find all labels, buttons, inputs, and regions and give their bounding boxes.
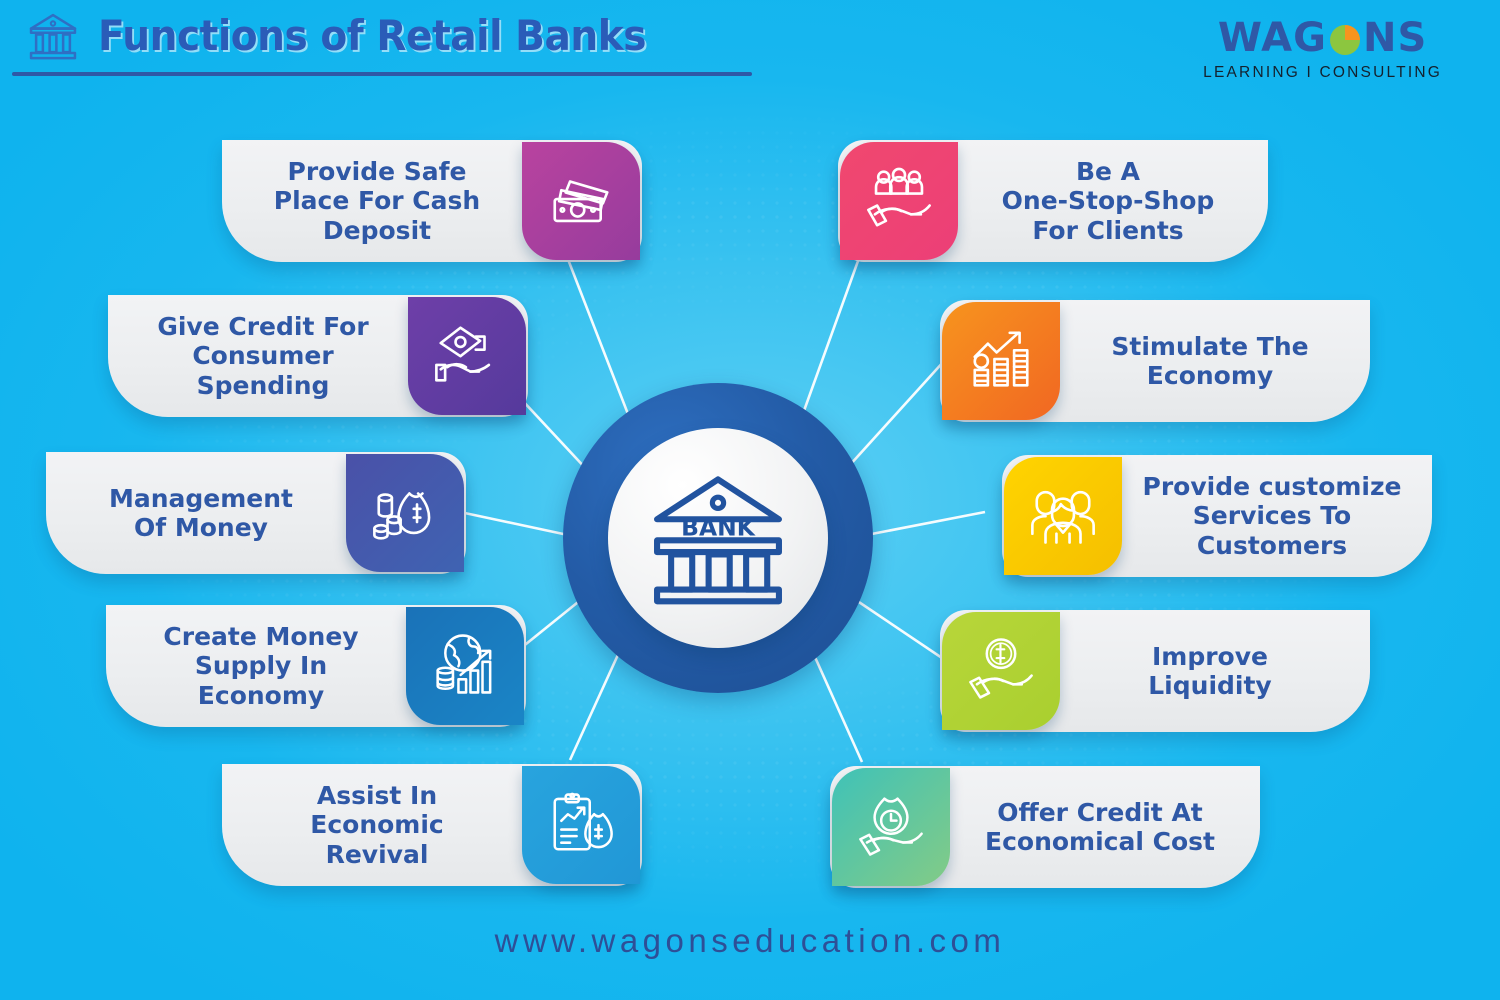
footer-url[interactable]: www.wagonseducation.com [0,922,1500,960]
tile-banknotes [522,142,640,260]
card-label: Be A One-Stop-Shop For Clients [958,157,1268,245]
hub-disc: BANK [608,428,828,648]
customers-group-icon [1028,479,1098,554]
tile-people-on-hand [840,142,958,260]
card-label: Offer Credit At Economical Cost [950,798,1260,857]
function-card-give-credit[interactable]: Give Credit For Consumer Spending [108,295,528,417]
function-card-provide-safe-place[interactable]: Provide Safe Place For Cash Deposit [222,140,642,262]
function-card-stimulate-economy[interactable]: Stimulate The Economy [940,300,1370,422]
people-on-hand-icon [864,164,934,239]
card-label: Assist In Economic Revival [222,781,522,869]
card-label: Management Of Money [46,484,346,543]
infographic-canvas: Functions of Retail Banks WAG NS LEARNIN… [0,0,1500,1000]
center-hub: BANK [563,383,873,693]
function-card-offer-credit[interactable]: Offer Credit At Economical Cost [830,766,1260,888]
bank-building-icon: BANK [643,463,793,613]
function-card-improve-liquidity[interactable]: Improve Liquidity [940,610,1370,732]
hand-money-bag-clock-icon [856,790,926,865]
function-card-customize-services[interactable]: Provide customize Services To Customers [1002,455,1432,577]
logo-tagline: LEARNING I CONSULTING [1203,64,1442,82]
title-underline [12,72,752,76]
function-card-create-money-supply[interactable]: Create Money Supply In Economy [106,605,526,727]
bank-building-icon [26,10,80,70]
card-label: Stimulate The Economy [1060,332,1370,391]
function-card-management-of-money[interactable]: Management Of Money [46,452,466,574]
logo-wordmark: WAG NS [1203,18,1442,58]
tile-globe-growth-chart [406,607,524,725]
card-label: Provide customize Services To Customers [1122,472,1432,560]
tile-growth-arrow-coins [942,302,1060,420]
logo-word-part1: WAG [1218,18,1327,58]
card-label: Improve Liquidity [1060,642,1370,701]
wagons-logo: WAG NS LEARNING I CONSULTING [1203,18,1442,82]
card-label: Provide Safe Place For Cash Deposit [222,157,522,245]
tile-hand-dollar-coin [942,612,1060,730]
card-label: Give Credit For Consumer Spending [108,312,408,400]
page-title: Functions of Retail Banks [98,11,646,60]
hand-dollar-coin-icon [966,634,1036,709]
hand-giving-money-icon [432,319,502,394]
function-card-one-stop-shop[interactable]: Be A One-Stop-Shop For Clients [838,140,1268,262]
money-bag-coins-icon [370,476,440,551]
tile-customers-group [1004,457,1122,575]
tile-clipboard-money-bag [522,766,640,884]
tile-money-bag-coins [346,454,464,572]
banknotes-icon [546,164,616,239]
logo-word-part2: NS [1363,18,1427,58]
function-card-assist-economic-revival[interactable]: Assist In Economic Revival [222,764,642,886]
pie-chart-icon [1328,23,1362,57]
growth-arrow-coins-icon [966,324,1036,399]
tile-hand-giving-money [408,297,526,415]
clipboard-money-bag-icon [546,788,616,863]
tile-hand-money-bag-clock [832,768,950,886]
card-label: Create Money Supply In Economy [106,622,406,710]
globe-growth-chart-icon [430,629,500,704]
